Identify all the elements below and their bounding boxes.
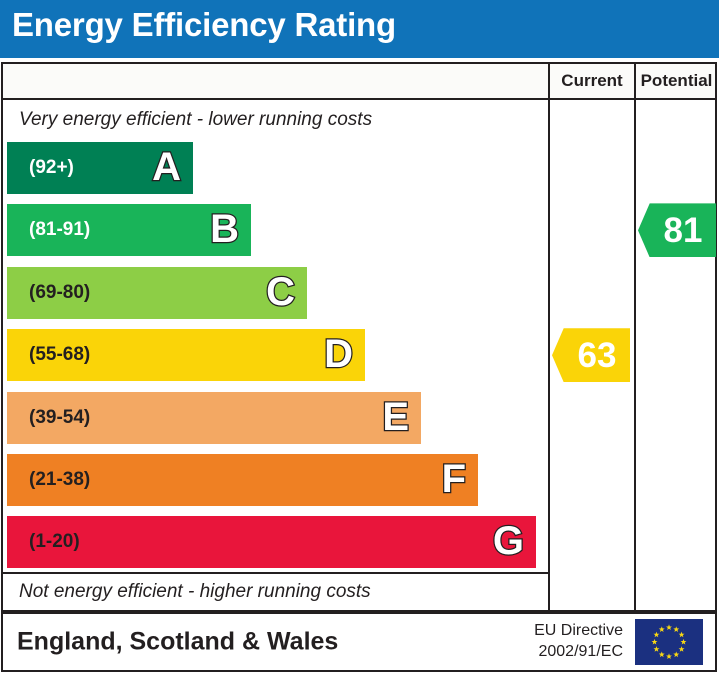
band-bar-b: (81-91) B — [7, 204, 251, 256]
band-letter-c: C — [266, 272, 295, 312]
band-bar-f: (21-38) F — [7, 454, 478, 506]
column-header-potential: Potential — [634, 64, 717, 98]
potential-rating-value: 81 — [652, 213, 703, 248]
band-bar-c: (69-80) C — [7, 267, 307, 319]
band-letter-e: E — [382, 397, 409, 437]
table-column-header-row: Current Potential — [3, 64, 715, 100]
rating-table: Current Potential Very energy efficient … — [1, 62, 717, 612]
band-range-c: (69-80) — [29, 282, 90, 304]
band-bar-e: (39-54) E — [7, 392, 421, 444]
band-range-a: (92+) — [29, 157, 74, 179]
current-rating-value: 63 — [566, 338, 617, 373]
footer-directive-line2: 2002/91/EC — [534, 642, 623, 663]
band-range-f: (21-38) — [29, 469, 90, 491]
band-range-g: (1-20) — [29, 531, 80, 553]
caption-inefficient: Not energy efficient - higher running co… — [3, 572, 548, 610]
energy-efficiency-certificate: Energy Efficiency Rating Current Potenti… — [0, 0, 719, 675]
column-divider-potential — [634, 100, 636, 610]
band-letter-d: D — [324, 334, 353, 374]
page-title: Energy Efficiency Rating — [12, 6, 396, 44]
band-bar-g: (1-20) G — [7, 516, 536, 568]
band-letter-a: A — [152, 147, 181, 187]
footer-region-label: England, Scotland & Wales — [17, 628, 338, 657]
column-header-current: Current — [548, 64, 634, 98]
band-bar-a: (92+) A — [7, 142, 193, 194]
caption-efficient: Very energy efficient - lower running co… — [3, 100, 548, 140]
footer-directive-line1: EU Directive — [534, 621, 623, 642]
rating-band-bars: (92+) A (81-91) B (69-80) C (55-68) D (3… — [3, 140, 548, 572]
column-divider-current — [548, 100, 550, 610]
band-range-e: (39-54) — [29, 407, 90, 429]
band-letter-b: B — [210, 210, 239, 250]
footer-directive: EU Directive 2002/91/EC — [534, 621, 623, 663]
chart-header-bar: Energy Efficiency Rating — [0, 0, 719, 58]
band-range-d: (55-68) — [29, 344, 90, 366]
certificate-footer: England, Scotland & Wales EU Directive 2… — [1, 612, 717, 672]
potential-rating-arrow: 81 — [638, 203, 716, 257]
band-bar-d: (55-68) D — [7, 329, 365, 381]
band-letter-f: F — [442, 459, 466, 499]
band-range-b: (81-91) — [29, 219, 90, 241]
current-rating-arrow: 63 — [552, 328, 630, 382]
band-letter-g: G — [493, 522, 524, 562]
eu-flag-icon — [635, 619, 703, 665]
